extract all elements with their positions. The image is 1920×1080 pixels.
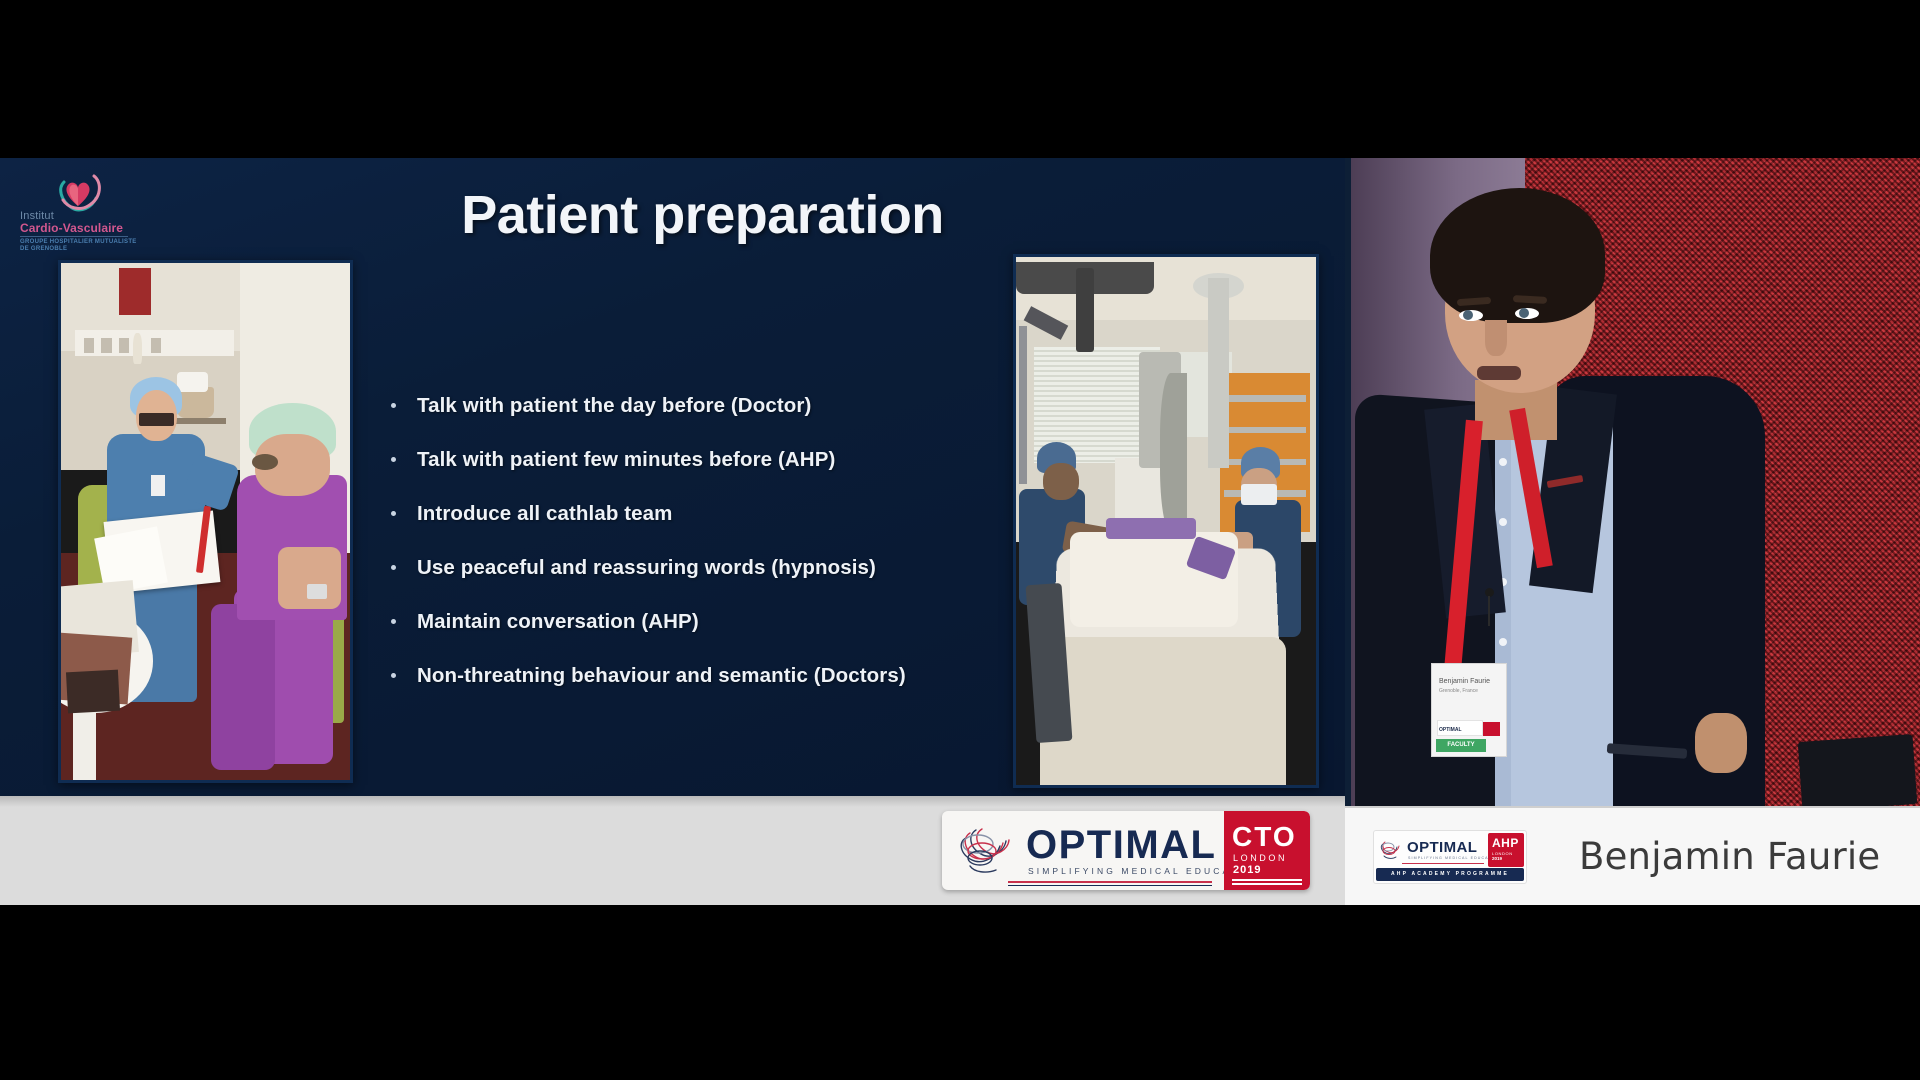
bullet-dot-icon — [391, 565, 396, 570]
bullet-dot-icon — [391, 619, 396, 624]
cto-badge-year: 2019 — [1233, 864, 1261, 876]
optimal-ahp-logo: OPTIMAL SIMPLIFYING MEDICAL EDUCATION AH… — [1373, 830, 1527, 884]
laptop-on-lectern — [1798, 734, 1918, 808]
slide-footer-bar: OPTIMAL SIMPLIFYING MEDICAL EDUCATION CT… — [0, 796, 1345, 905]
cathlab-photo — [1013, 254, 1319, 788]
bullet-text: Introduce all cathlab team — [417, 502, 673, 525]
optimal-cto-london-logo: OPTIMAL SIMPLIFYING MEDICAL EDUCATION CT… — [942, 811, 1310, 890]
consultation-room-photo — [58, 260, 353, 783]
ahp-badge-title: AHP — [1492, 836, 1519, 850]
bullet-dot-icon — [391, 673, 396, 678]
bullet-dot-icon — [391, 511, 396, 516]
list-item: Talk with patient few minutes before (AH… — [385, 448, 1005, 472]
presentation-viewer: Institut Cardio-Vasculaire GROUPE HOSPIT… — [0, 0, 1920, 1080]
ahp-badge-year: 2019 — [1492, 856, 1502, 861]
list-item: Talk with patient the day before (Doctor… — [385, 394, 1005, 418]
bullet-text: Maintain conversation (AHP) — [417, 610, 699, 633]
letterbox-bottom — [0, 905, 1920, 1080]
badge-holder-name: Benjamin Faurie — [1439, 678, 1490, 685]
bullet-text: Talk with patient few minutes before (AH… — [417, 448, 835, 471]
optimal-wordmark: OPTIMAL — [1026, 825, 1216, 865]
cto-badge-title: CTO — [1232, 821, 1297, 853]
badge-logo-word: OPTIMAL — [1439, 727, 1462, 733]
list-item: Non-threatning behaviour and semantic (D… — [385, 664, 1005, 688]
slide-title: Patient preparation — [0, 184, 1345, 246]
speaker-hand — [1695, 713, 1747, 773]
list-item: Maintain conversation (AHP) — [385, 610, 1005, 634]
bullet-text: Talk with patient the day before (Doctor… — [417, 394, 811, 417]
speaker-conference-badge: Benjamin Faurie Grenoble, France OPTIMAL… — [1431, 663, 1507, 757]
scribble-heart-icon — [1379, 838, 1405, 860]
badge-role-line: Grenoble, France — [1439, 688, 1478, 694]
list-item: Use peaceful and reassuring words (hypno… — [385, 556, 1005, 580]
speaker-name: Benjamin Faurie — [1579, 835, 1880, 878]
cto-badge: CTO LONDON 2019 — [1224, 811, 1310, 890]
badge-access-label: FACULTY — [1436, 739, 1486, 752]
slide-pane: Institut Cardio-Vasculaire GROUPE HOSPIT… — [0, 158, 1345, 796]
letterbox-top — [0, 0, 1920, 158]
ahp-academy-ribbon: AHP ACADEMY PROGRAMME — [1376, 868, 1524, 881]
bullet-text: Non-threatning behaviour and semantic (D… — [417, 664, 906, 687]
scribble-heart-icon — [956, 824, 1024, 876]
cto-badge-city: LONDON — [1233, 853, 1287, 863]
list-item: Introduce all cathlab team — [385, 502, 1005, 526]
stage-edge — [1345, 158, 1351, 808]
ahp-logo-wordmark: OPTIMAL — [1407, 839, 1477, 856]
bullet-text: Use peaceful and reassuring words (hypno… — [417, 556, 876, 579]
bullet-list: Talk with patient the day before (Doctor… — [385, 394, 1005, 718]
speaker-name-bar: OPTIMAL SIMPLIFYING MEDICAL EDUCATION AH… — [1345, 808, 1920, 905]
bullet-dot-icon — [391, 457, 396, 462]
speaker-video[interactable]: Benjamin Faurie Grenoble, France OPTIMAL… — [1345, 158, 1920, 808]
bullet-dot-icon — [391, 403, 396, 408]
